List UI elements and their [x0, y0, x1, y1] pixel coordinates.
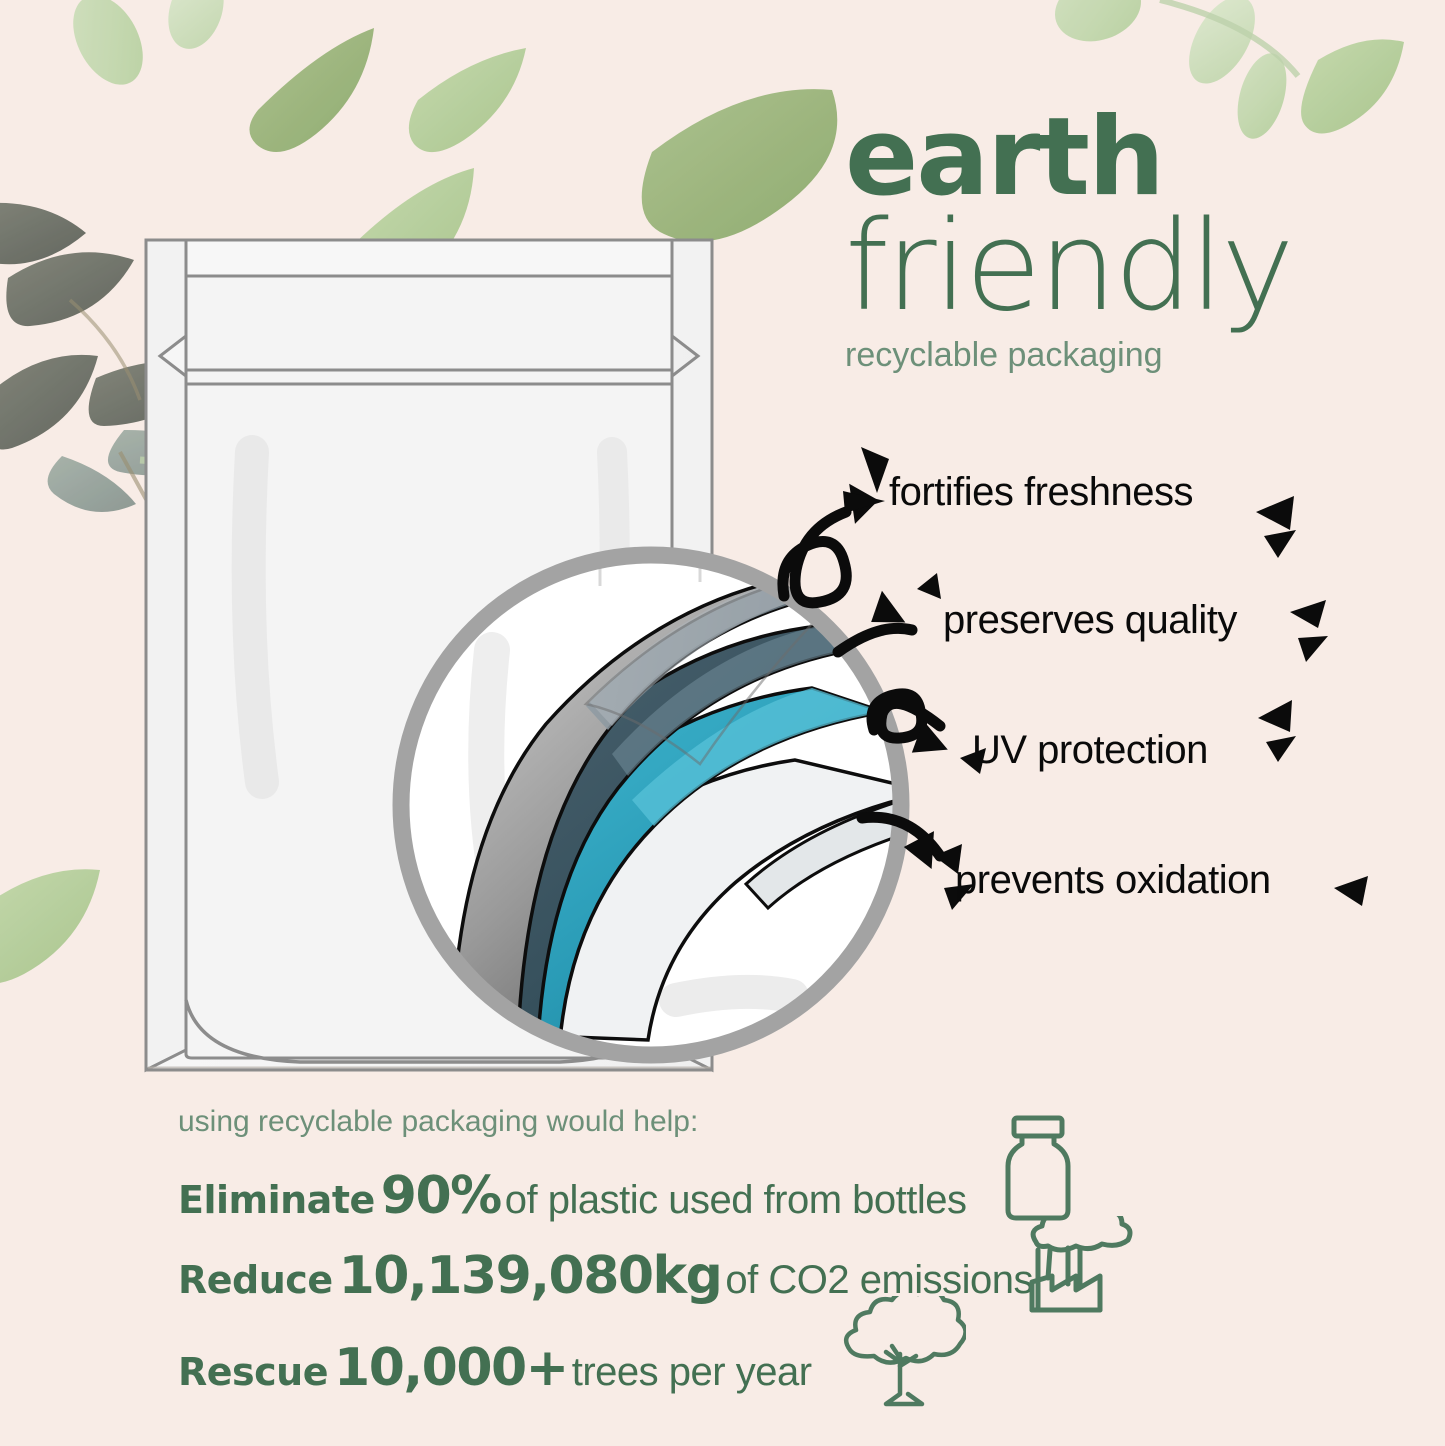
stat-verb: Rescue: [178, 1350, 328, 1394]
stats-intro-text: using recyclable packaging would help:: [178, 1105, 698, 1139]
feature-label-prevents-oxidation: prevents oxidation: [955, 858, 1271, 903]
curly-arrow-icon-1: [783, 512, 846, 603]
stat-tail: of plastic used from bottles: [505, 1178, 967, 1222]
stat-row-eliminate: Eliminate90%of plastic used from bottles: [178, 1166, 967, 1226]
curved-arrow-icon-2: [838, 628, 912, 652]
stat-tail: trees per year: [572, 1350, 812, 1394]
feature-label-preserves-quality: preserves quality: [943, 598, 1237, 643]
stat-row-rescue: Rescue10,000+trees per year: [178, 1338, 812, 1398]
feature-label-uv-protection: UV protection: [972, 728, 1208, 773]
factory-icon: [1022, 1216, 1134, 1316]
tree-icon: [838, 1296, 966, 1408]
infographic-canvas: earth friendly recyclable packaging fort…: [0, 0, 1445, 1446]
headline-block: earth friendly recyclable packaging: [845, 108, 1405, 375]
headline-line-1: earth: [845, 108, 1405, 207]
headline-subtitle: recyclable packaging: [845, 336, 1405, 375]
stat-figure: 10,000+: [334, 1338, 568, 1398]
stat-verb: Reduce: [178, 1258, 333, 1302]
stat-figure: 10,139,080kg: [339, 1246, 722, 1306]
stat-verb: Eliminate: [178, 1178, 375, 1222]
bottle-icon: [992, 1112, 1084, 1222]
arrowheads: [841, 484, 948, 869]
headline-line-2: friendly: [845, 209, 1405, 326]
stat-figure: 90%: [381, 1166, 501, 1226]
feature-label-fortifies-freshness: fortifies freshness: [889, 470, 1193, 515]
